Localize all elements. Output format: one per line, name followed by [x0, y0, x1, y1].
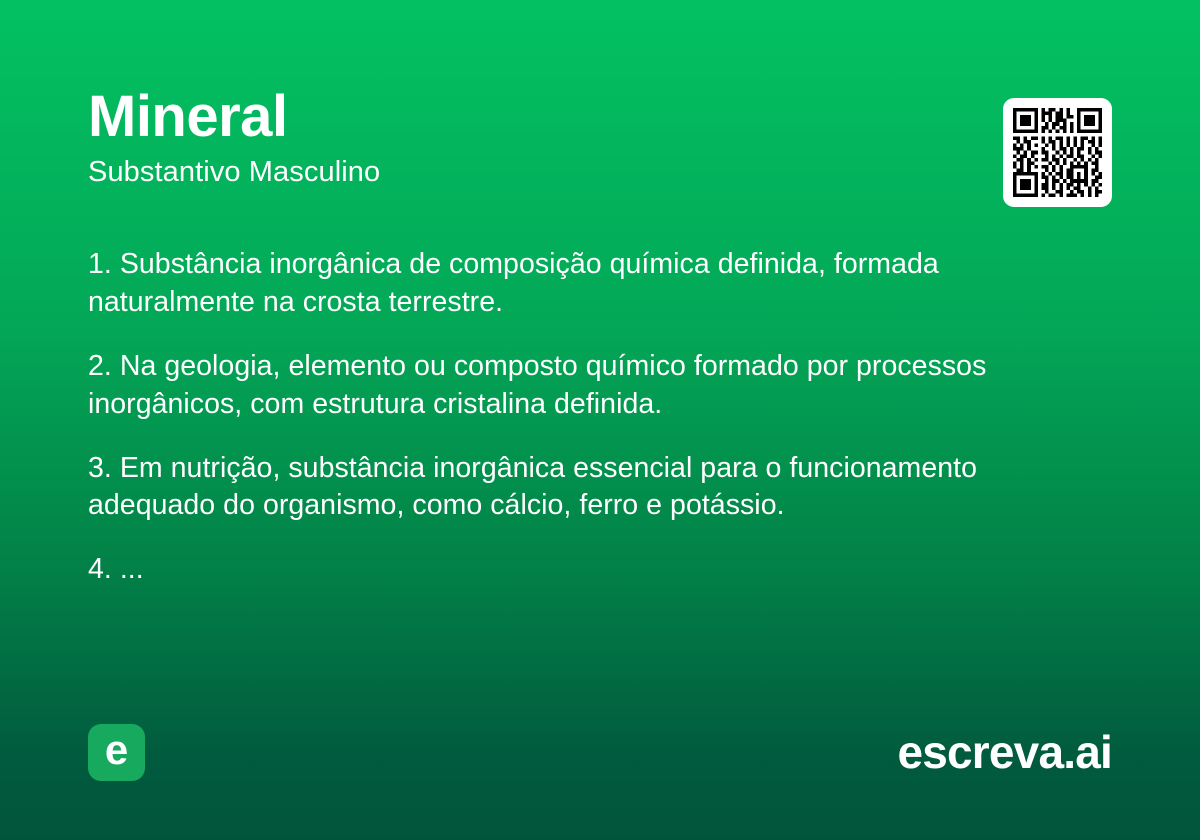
- qr-code-icon: [1013, 108, 1102, 197]
- definition-list: 1. Substância inorgânica de composição q…: [88, 246, 1088, 589]
- definition-item-2: 2. Na geologia, elemento ou composto quí…: [88, 348, 1088, 424]
- dictionary-card: Mineral Substantivo Masculino: [0, 0, 1200, 840]
- card-footer: e escreva.ai: [88, 723, 1112, 781]
- definition-item-3: 3. Em nutrição, substância inorgânica es…: [88, 450, 1088, 526]
- brand-wordmark: escreva.ai: [897, 729, 1112, 775]
- grammatical-class-label: Substantivo Masculino: [88, 155, 968, 190]
- qr-code-card[interactable]: [1003, 98, 1112, 207]
- card-header: Mineral Substantivo Masculino: [88, 86, 968, 189]
- definition-item-4: 4. ...: [88, 551, 1088, 589]
- brand-logo-icon: e: [88, 724, 145, 781]
- definition-item-1: 1. Substância inorgânica de composição q…: [88, 246, 1088, 322]
- page-title: Mineral: [88, 86, 968, 149]
- brand-logo-letter: e: [105, 729, 128, 771]
